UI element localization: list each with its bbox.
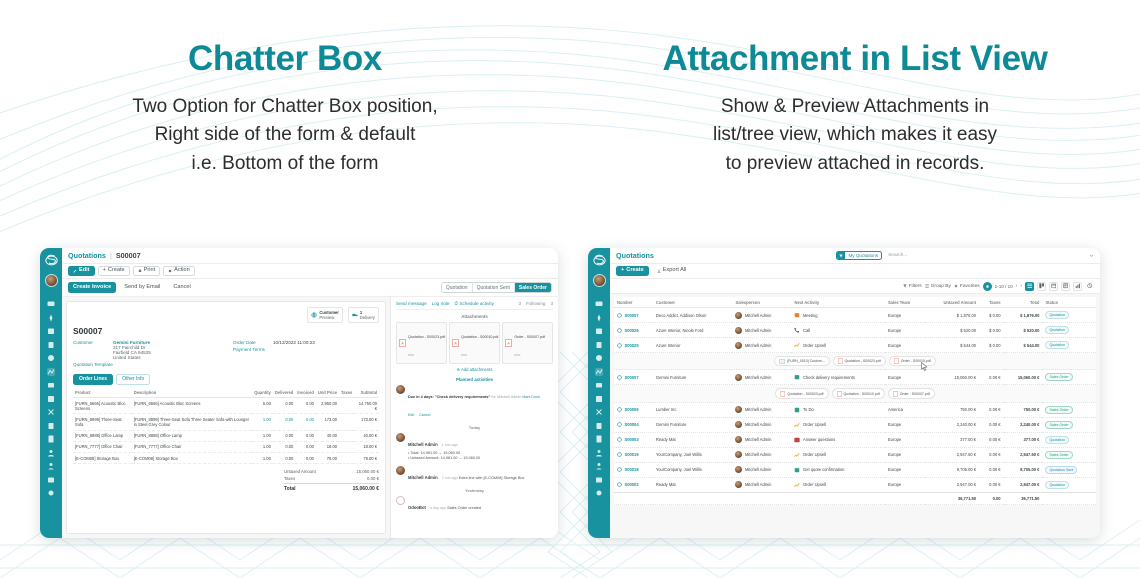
cell-taxes: [339, 414, 354, 430]
cell-next-activity: Answer questions: [791, 432, 884, 447]
cell-next-activity: Order Upsell: [791, 447, 884, 462]
follow-count[interactable]: 3: [518, 301, 521, 306]
cell-quantity: 1.00: [252, 414, 273, 430]
sidebar-item-manufacturing[interactable]: [47, 408, 55, 416]
breadcrumb: Quotations: [616, 251, 654, 260]
field-payment-terms: Payment Terms: [233, 347, 379, 352]
table-row[interactable]: S00004Gemini FurnitureMitchell AdminOrde…: [614, 417, 1096, 432]
attachment-name: Quotation - S00023.pdf: [845, 359, 881, 363]
delivery-text: Delivery: [360, 315, 375, 320]
sidebar-item-recruitment[interactable]: [595, 462, 603, 470]
table-row[interactable]: [FURN_8999] Three-Seat Sofa [FURN_8999] …: [73, 414, 379, 430]
cell-product: [FURN_8999] Three-Seat Sofa: [73, 414, 132, 430]
form-view-window: Quotations | S00007 Edit + Create Print: [40, 248, 558, 538]
sidebar-item-invoicing[interactable]: [595, 435, 603, 443]
table-row[interactable]: S00006Lumber IncMitchell AdminTo DoAmeri…: [614, 402, 1096, 417]
author-name: Mitchell Admin: [408, 475, 438, 480]
sidebar-item-inventory[interactable]: [47, 395, 55, 403]
planned-activities-title: Planned activities: [396, 377, 553, 382]
cell-subtotal: 40.00 €: [354, 430, 379, 441]
action-button[interactable]: Action: [163, 266, 195, 277]
headline-right-line-3: to preview attached in records.: [570, 150, 1140, 179]
cell-delivered: 0.00: [273, 398, 295, 414]
attachment-name: Quotation - S00010.pdf: [461, 335, 498, 339]
attachment-name: Order - S00007.pdf: [514, 335, 545, 339]
search-facet[interactable]: My Quotations: [836, 251, 882, 261]
odoo-logo-icon[interactable]: [592, 253, 607, 268]
cell-sales-team: Europe: [885, 370, 925, 385]
activity-item: Due in 4 days: "Check delivery requireme…: [396, 385, 553, 421]
form-breadcrumb-bar: Quotations | S00007: [62, 248, 558, 264]
table-row[interactable]: [FURN_7777] Office Chair [FURN_7777] Off…: [73, 441, 379, 452]
message-time: 1 min ago: [442, 443, 458, 447]
sidebar-item-website[interactable]: [595, 476, 603, 484]
cell-taxes: 0.00 €: [979, 477, 1003, 492]
filters-button[interactable]: Filters: [903, 284, 922, 289]
send-by-email-button[interactable]: Send by Email: [119, 282, 165, 293]
cell-customer: YourCompany, Joel Willis: [653, 447, 733, 462]
chevron-down-icon[interactable]: [1089, 253, 1094, 258]
cell-number: S00018: [614, 462, 653, 477]
avatar: [396, 466, 405, 475]
record-toggle-icon[interactable]: [617, 482, 622, 487]
attachment-chip[interactable]: Order - S00007.pdf: [888, 388, 935, 398]
list-view-body: Quotations My Quotations Search... + Cre…: [610, 248, 1100, 538]
col-unit-price[interactable]: Unit Price: [316, 388, 339, 398]
odoo-logo-icon[interactable]: [44, 253, 59, 268]
cell-total: $ 520.00: [1004, 323, 1043, 338]
cell-status: Sales Order: [1042, 370, 1096, 385]
col-untaxed-amount[interactable]: Untaxed Amount: [925, 297, 979, 308]
tab-order-lines[interactable]: Order Lines: [73, 374, 113, 386]
cell-next-activity: Call: [791, 323, 884, 338]
sidebar-item-calendar[interactable]: [595, 327, 603, 335]
mouse-cursor: [921, 362, 928, 371]
create-button[interactable]: + Create: [98, 266, 130, 277]
cell-delivered: 0.00: [273, 441, 295, 452]
cancel-button[interactable]: Cancel: [168, 282, 195, 293]
message-item: Mitchell Admin 2 min ago Extra line with…: [396, 466, 553, 484]
cell-total: 15,060.00 €: [1004, 370, 1043, 385]
headline-right-title: Attachment in List View: [570, 40, 1140, 79]
view-list-button[interactable]: [1025, 282, 1034, 291]
order-lines-body: [FURN_6666] Acoustic Bloc Screens [FURN_…: [73, 398, 379, 464]
cell-description: [FURN_8999] Three-Seat Sofa Three Seater…: [132, 414, 253, 430]
sidebar-item-contacts[interactable]: [595, 314, 603, 322]
attachment-item[interactable]: A Quotation - S00010.pdf PDF: [449, 322, 500, 364]
cell-unit-price: 173.00: [316, 414, 339, 430]
cell-taxes: $ 0.00: [979, 308, 1003, 323]
cell-salesperson: Mitchell Admin: [732, 308, 791, 323]
total-untaxed-value: 15,060.00 €: [356, 469, 379, 474]
search-input[interactable]: Search...: [888, 253, 907, 258]
cell-customer: Gemini Furniture: [653, 370, 733, 385]
view-activity-button[interactable]: [1085, 282, 1094, 291]
settings-circle-button[interactable]: [983, 282, 992, 291]
attachment-chip[interactable]: Quotation - S00010.pdf: [832, 388, 885, 398]
cell-quantity: 1.00: [252, 430, 273, 441]
attachment-type: PDF: [461, 353, 467, 357]
attachment-chip[interactable]: Order - S00015.pdf: [889, 356, 936, 366]
cell-status: Sales Order: [1042, 417, 1096, 432]
cell-sales-team: Europe: [885, 417, 925, 432]
cell-taxes: $ 0.00: [979, 338, 1003, 353]
sidebar-item-sales[interactable]: [595, 368, 603, 376]
avatar: [735, 481, 742, 488]
col-invoiced[interactable]: Invoiced: [295, 388, 316, 398]
cell-quantity: 5.00: [252, 398, 273, 414]
chatter-box: Send message Log note ⏱ Schedule activit…: [390, 297, 558, 538]
cell-next-activity: To Do: [791, 402, 884, 417]
cell-number: S00019: [614, 447, 653, 462]
col-product[interactable]: Product: [73, 388, 132, 398]
cell-taxes: $ 0.00: [979, 323, 1003, 338]
sidebar-app-icons: [595, 300, 603, 497]
record-toggle-icon[interactable]: [617, 343, 622, 348]
col-next-activity[interactable]: Next Activity: [791, 297, 884, 308]
attachment-chip[interactable]: Quotation - S00023.pdf: [775, 388, 828, 398]
favorites-button[interactable]: Favorites: [954, 284, 980, 289]
pager-previous-button[interactable]: ‹: [1016, 284, 1018, 289]
pdf-icon: [837, 391, 842, 397]
total-taxes-row: Taxes 0.00 €: [284, 475, 379, 482]
log-note-button[interactable]: Log note: [432, 301, 450, 306]
create-button-label: Create: [626, 268, 643, 274]
avatar: [735, 421, 742, 428]
cell-delivered: 0.00: [273, 453, 295, 464]
pager-next-button[interactable]: ›: [1020, 284, 1022, 289]
create-button[interactable]: + Create: [616, 266, 649, 277]
col-status[interactable]: Status: [1042, 297, 1096, 308]
list-header-row: Number Customer Salesperson Next Activit…: [614, 297, 1096, 308]
plus-icon: +: [621, 268, 624, 274]
cell-taxes: [339, 398, 354, 414]
add-attachments-button[interactable]: ⊕ Add attachments: [396, 367, 553, 372]
table-row[interactable]: S00019YourCompany, Joel WillisMitchell A…: [614, 447, 1096, 462]
attachment-chip[interactable]: Quotation - S00023.pdf: [833, 356, 886, 366]
day-separator: Today: [396, 425, 553, 430]
record-toggle-icon[interactable]: [617, 422, 622, 427]
field-customer-value[interactable]: Gemini Furniture 317 Fairchild Dr Fairfi…: [113, 340, 151, 360]
cell-quantity: 1.00: [252, 453, 273, 464]
table-row[interactable]: S00003Ready MatMitchell AdminAnswer ques…: [614, 432, 1096, 447]
attachment-chips-cell: [FURN_0010] Custom...Quotation - S00023.…: [614, 353, 1096, 370]
group-by-button[interactable]: Group By: [925, 284, 951, 289]
message-text: Sales Order created: [447, 506, 481, 510]
sidebar-item-purchase[interactable]: [595, 381, 603, 389]
sidebar-item-settings[interactable]: [47, 489, 55, 497]
sidebar-item-website[interactable]: [47, 476, 55, 484]
record-toggle-icon[interactable]: [617, 452, 622, 457]
table-row[interactable]: S00007Deco Addict, Addison OlsonMitchell…: [614, 308, 1096, 323]
headline-right: Attachment in List View Show & Preview A…: [570, 40, 1140, 178]
followers-count[interactable]: 3: [550, 301, 553, 306]
attachment-name: [FURN_0010] Custom...: [787, 359, 824, 363]
message-body: Mitchell Admin 1 min ago • Total: 14,981…: [408, 433, 480, 462]
cell-invoiced: 0.00: [295, 430, 316, 441]
cell-customer: Gemini Furniture: [653, 417, 733, 432]
field-quotation-template: Quotation Template: [73, 362, 219, 367]
breadcrumb-root[interactable]: Quotations: [616, 251, 654, 260]
breadcrumb-record: S00007: [116, 251, 141, 260]
attachment-item[interactable]: A Quotation - S00023.pdf PDF: [396, 322, 447, 364]
table-row[interactable]: [E-COM08] Storage Box [E-COM08] Storage …: [73, 453, 379, 464]
col-quantity[interactable]: Quantity: [252, 388, 273, 398]
col-taxes[interactable]: Taxes: [979, 297, 1003, 308]
message-author: Mitchell Admin 1 min ago: [408, 442, 458, 447]
sidebar-item-inventory[interactable]: [595, 395, 603, 403]
sidebar-item-employees[interactable]: [47, 449, 55, 457]
breadcrumb: Quotations | S00007: [68, 251, 141, 260]
globe-icon: [311, 312, 317, 318]
status-badge: Sales Order: [1045, 373, 1072, 381]
edit-button[interactable]: Edit: [68, 266, 95, 277]
sidebar-item-contacts[interactable]: [47, 314, 55, 322]
sidebar-item-calendar[interactable]: [47, 327, 55, 335]
cell-taxes: 0.00 €: [979, 370, 1003, 385]
status-badge: Quotation: [1045, 481, 1069, 489]
table-row[interactable]: S00018YourCompany, Joel WillisMitchell A…: [614, 462, 1096, 477]
cell-untaxed-amount: $ 520.00: [925, 323, 979, 338]
following-button[interactable]: Following: [526, 301, 545, 306]
cell-salesperson: Mitchell Admin: [732, 477, 791, 492]
record-toggle-icon[interactable]: [617, 467, 622, 472]
status-sales-order[interactable]: Sales Order: [515, 283, 551, 292]
cell-salesperson: Mitchell Admin: [732, 432, 791, 447]
record-toggle-icon[interactable]: [617, 313, 622, 318]
activity-text: Due in 4 days: "Check delivery requireme…: [408, 395, 522, 399]
tab-other-info[interactable]: Other Info: [116, 374, 150, 386]
gear-icon: [985, 284, 990, 289]
sidebar-item-accounting[interactable]: [47, 422, 55, 430]
search-facet-label: My Quotations: [845, 252, 881, 260]
cell-total: 2,240.00 €: [1004, 417, 1043, 432]
sidebar-item-manufacturing[interactable]: [595, 408, 603, 416]
sidebar-item-invoicing[interactable]: [47, 435, 55, 443]
col-subtotal[interactable]: Subtotal: [354, 388, 379, 398]
headline-left-title: Chatter Box: [0, 40, 570, 79]
headline-left: Chatter Box Two Option for Chatter Box p…: [0, 40, 570, 178]
sidebar-item-crm[interactable]: [47, 354, 55, 362]
list-control-panel: + Create Export All: [610, 264, 1100, 279]
author-name: Mitchell Admin: [408, 442, 438, 447]
cell-next-activity: Order Upsell: [791, 417, 884, 432]
cell-total: 2,947.00 €: [1004, 477, 1043, 492]
pencil-icon: [73, 269, 77, 273]
pivot-icon: [1063, 283, 1069, 289]
pdf-icon: [780, 391, 785, 397]
list-view-window: Quotations My Quotations Search... + Cre…: [588, 248, 1100, 538]
quotations-table-body: S00007Deco Addict, Addison OlsonMitchell…: [614, 308, 1096, 505]
table-row[interactable]: S00025Azure InteriorMitchell AdminOrder …: [614, 338, 1096, 353]
cell-untaxed-amount: 2,947.50 €: [925, 447, 979, 462]
cell-salesperson: Mitchell Admin: [732, 447, 791, 462]
view-graph-button[interactable]: [1073, 282, 1082, 291]
headline-right-line-2: list/tree view, which makes it easy: [570, 121, 1140, 150]
attachment-row: [FURN_0010] Custom...Quotation - S00023.…: [614, 353, 1096, 370]
attachment-name: Quotation - S00023.pdf: [787, 392, 823, 396]
table-row[interactable]: [FURN_8888] Office Lamp [FURN_8888] Offi…: [73, 430, 379, 441]
cell-total: 750.00 €: [1004, 402, 1043, 417]
status-quotation[interactable]: Quotation: [442, 283, 473, 292]
cell-status: Quotation: [1042, 323, 1096, 338]
sidebar-item-settings[interactable]: [595, 489, 603, 497]
status-badge: Quotation: [1045, 436, 1069, 444]
view-pivot-button[interactable]: [1061, 282, 1070, 291]
cell-product: [FURN_7777] Office Chair: [73, 441, 132, 452]
field-customer: Customer Gemini Furniture 317 Fairchild …: [73, 340, 219, 360]
mark-done-link[interactable]: Mark Done: [522, 395, 540, 399]
table-row[interactable]: S00007Gemini FurnitureMitchell AdminChec…: [614, 370, 1096, 385]
customer-preview-smart-button[interactable]: Customer Preview: [307, 307, 343, 323]
headline-right-subtitle: Show & Preview Attachments in list/tree …: [570, 93, 1140, 179]
cell-untaxed-amount: $ 544.00: [925, 338, 979, 353]
avatar: [396, 385, 405, 394]
cell-description: [E-COM08] Storage Box: [132, 453, 253, 464]
cell-delivered: 0.00: [273, 414, 295, 430]
print-icon: [138, 269, 142, 273]
sidebar-item-sales[interactable]: [47, 368, 55, 376]
sidebar-item-purchase[interactable]: [47, 381, 55, 389]
status-badge: Sales Order: [1045, 451, 1072, 459]
record-toggle-icon[interactable]: [617, 407, 622, 412]
quotations-table: Number Customer Salesperson Next Activit…: [614, 297, 1096, 505]
field-customer-city: Fairfield CA 94535: [113, 350, 151, 355]
col-description[interactable]: Description: [132, 388, 253, 398]
col-customer[interactable]: Customer: [653, 297, 733, 308]
sidebar-item-notes[interactable]: [595, 341, 603, 349]
cancel-activity-link[interactable]: Cancel: [419, 413, 430, 417]
cell-status: Quotation Sent: [1042, 462, 1096, 477]
table-row[interactable]: S00026Azure Interior, Nicole FordMitchel…: [614, 323, 1096, 338]
sidebar-item-accounting[interactable]: [595, 422, 603, 430]
attachment-item[interactable]: A Order - S00007.pdf PDF: [502, 322, 553, 364]
day-separator: Yesterday: [396, 488, 553, 493]
cell-sales-team: Europe: [885, 338, 925, 353]
print-button[interactable]: Print: [133, 266, 161, 277]
view-calendar-button[interactable]: [1049, 282, 1058, 291]
status-bar: Quotation Quotation Sent Sales Order: [441, 282, 552, 293]
cell-status: Quotation: [1042, 308, 1096, 323]
cell-next-activity: Meeting: [791, 308, 884, 323]
status-badge: Sales Order: [1045, 406, 1072, 414]
order-lines-table: Product Description Quantity Delivered I…: [73, 388, 379, 464]
table-row[interactable]: [FURN_6666] Acoustic Bloc Screens [FURN_…: [73, 398, 379, 414]
attachment-name: Quotation - S00023.pdf: [408, 335, 445, 339]
group-icon: [925, 284, 929, 288]
attachment-list: A Quotation - S00023.pdf PDF A Quotation…: [396, 322, 553, 364]
cell-product: [FURN_6666] Acoustic Bloc Screens: [73, 398, 132, 414]
view-kanban-button[interactable]: [1037, 282, 1046, 291]
customer-preview-label: Customer Preview: [319, 310, 339, 321]
edit-activity-link[interactable]: Edit: [408, 413, 414, 417]
col-sales-team[interactable]: Sales Team: [885, 297, 925, 308]
activity-body: Due in 4 days: "Check delivery requireme…: [408, 385, 553, 421]
sidebar-item-discuss[interactable]: [47, 300, 55, 308]
smart-button-bar: Customer Preview 1 Delivery: [73, 307, 379, 323]
cell-customer: Azure Interior: [653, 338, 733, 353]
export-all-button[interactable]: Export All: [652, 266, 692, 277]
cell-invoiced: 0.00: [295, 414, 316, 430]
create-invoice-button[interactable]: Create Invoice: [68, 282, 116, 293]
calendar-icon: [1051, 283, 1057, 289]
cell-taxes: [339, 441, 354, 452]
cell-sales-team: Europe: [885, 432, 925, 447]
clock-icon: ⏱: [455, 301, 459, 306]
col-delivered[interactable]: Delivered: [273, 388, 295, 398]
cell-sales-team: Europe: [885, 308, 925, 323]
attachments-title: Attachments: [396, 314, 553, 319]
sidebar-item-crm[interactable]: [595, 354, 603, 362]
cell-description: [FURN_7777] Office Chair: [132, 441, 253, 452]
headline-left-line-2: Right side of the form & default: [0, 121, 570, 150]
record-toggle-icon[interactable]: [617, 328, 622, 333]
table-row[interactable]: S00002Ready MatMitchell AdminOrder Upsel…: [614, 477, 1096, 492]
cell-subtotal: 79.00 €: [354, 453, 379, 464]
cell-salesperson: Mitchell Admin: [732, 462, 791, 477]
cell-unit-price: 18.00: [316, 441, 339, 452]
user-avatar[interactable]: [593, 274, 606, 287]
record-toggle-icon[interactable]: [617, 375, 622, 380]
message-time: 2 min ago: [442, 476, 458, 480]
avatar: [735, 327, 742, 334]
cell-product: [FURN_8888] Office Lamp: [73, 430, 132, 441]
avatar: [735, 451, 742, 458]
cell-untaxed-amount: 2,240.00 €: [925, 417, 979, 432]
sidebar-item-discuss[interactable]: [595, 300, 603, 308]
schedule-activity-button[interactable]: ⏱ Schedule activity: [455, 301, 494, 306]
filter-icon: [903, 284, 907, 288]
sidebar-item-notes[interactable]: [47, 341, 55, 349]
attachment-meta: Quotation - S00023.pdf PDF: [408, 325, 444, 361]
status-quotation-sent[interactable]: Quotation Sent: [473, 283, 515, 292]
send-message-button[interactable]: Send message: [396, 301, 427, 306]
cell-taxes: [339, 453, 354, 464]
pdf-icon: A: [505, 339, 512, 347]
message-body: Mitchell Admin 2 min ago Extra line with…: [408, 466, 524, 484]
pdf-icon: [894, 358, 899, 364]
user-avatar[interactable]: [45, 274, 58, 287]
col-total[interactable]: Total: [1004, 297, 1043, 308]
cell-sales-team: Europe: [885, 477, 925, 492]
cell-untaxed-amount: 377.00 €: [925, 432, 979, 447]
cell-description: [FURN_8888] Office Lamp: [132, 430, 253, 441]
record-toggle-icon[interactable]: [617, 437, 622, 442]
cell-number: S00026: [614, 323, 653, 338]
avatar: [396, 433, 405, 442]
field-order-date-value[interactable]: 10/12/2022 11:00:23: [273, 340, 315, 345]
form-scroll-area: Customer Preview 1 Delivery: [62, 297, 558, 538]
sidebar-item-employees[interactable]: [595, 449, 603, 457]
total-taxes-label: Taxes: [284, 476, 295, 481]
col-salesperson[interactable]: Salesperson: [732, 297, 791, 308]
cell-invoiced: 0.00: [295, 441, 316, 452]
breadcrumb-root[interactable]: Quotations: [68, 251, 106, 260]
activity-subject: "Check delivery requirements": [435, 395, 491, 399]
attachment-chip-list: Quotation - S00023.pdfQuotation - S00010…: [617, 388, 1093, 398]
list-filter-bar: Filters Group By Favorites 1-10 / 10 ‹ ›: [610, 279, 1100, 294]
delivery-smart-button[interactable]: 1 Delivery: [348, 307, 379, 323]
message-body: OdooBot a day ago Sales Order created: [408, 496, 481, 514]
col-number[interactable]: Number: [614, 297, 653, 308]
list-icon: [1027, 283, 1033, 289]
activity-due: Due in 4 days:: [408, 395, 434, 399]
message-author: OdooBot a day ago: [408, 505, 447, 510]
col-taxes[interactable]: Taxes: [339, 388, 354, 398]
graph-icon: [1075, 283, 1081, 289]
sidebar-item-recruitment[interactable]: [47, 462, 55, 470]
attachment-chip[interactable]: [FURN_0010] Custom...: [774, 356, 829, 366]
